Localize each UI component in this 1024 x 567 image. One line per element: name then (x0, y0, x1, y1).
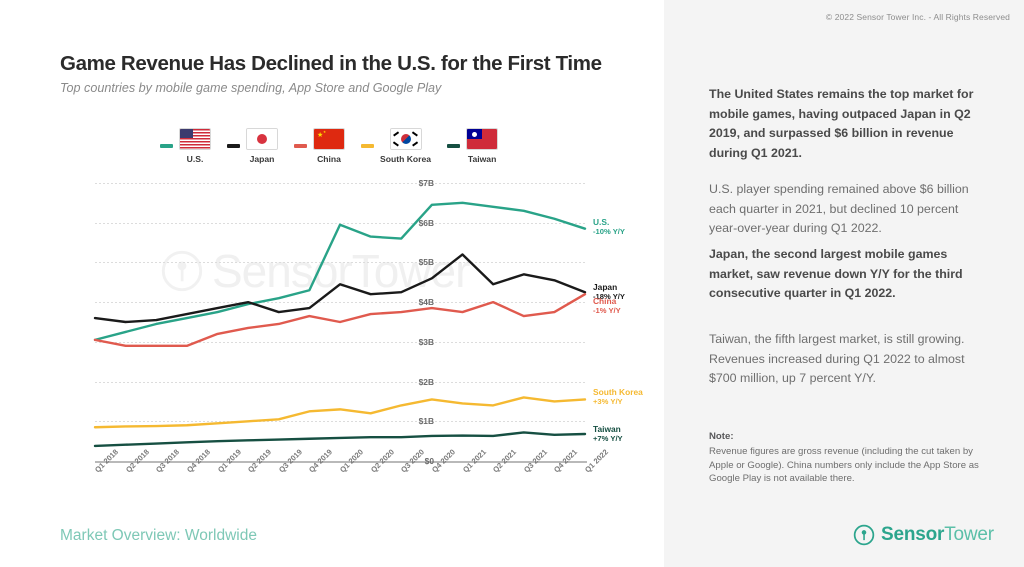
series-line-taiwan (95, 432, 585, 446)
series-end-label: China-1% Y/Y (593, 296, 621, 316)
chart-lines (0, 0, 1024, 567)
series-line-china (95, 294, 585, 346)
series-end-label-value: -10% Y/Y (593, 227, 625, 237)
series-end-label-value: +3% Y/Y (593, 397, 643, 407)
series-line-u-s (95, 203, 585, 340)
series-end-label: U.S.-10% Y/Y (593, 217, 625, 237)
series-end-label-name: Japan (593, 282, 625, 292)
infographic-root: © 2022 Sensor Tower Inc. - All Rights Re… (0, 0, 1024, 567)
series-end-label-value: -1% Y/Y (593, 306, 621, 316)
series-end-label: South Korea+3% Y/Y (593, 387, 643, 407)
series-end-label-name: South Korea (593, 387, 643, 397)
series-end-label-name: Taiwan (593, 424, 623, 434)
series-end-label-value: +7% Y/Y (593, 434, 623, 444)
series-end-label: Taiwan+7% Y/Y (593, 424, 623, 444)
series-end-label-name: U.S. (593, 217, 625, 227)
series-end-label-name: China (593, 296, 621, 306)
series-line-south-korea (95, 397, 585, 427)
series-line-japan (95, 254, 585, 322)
